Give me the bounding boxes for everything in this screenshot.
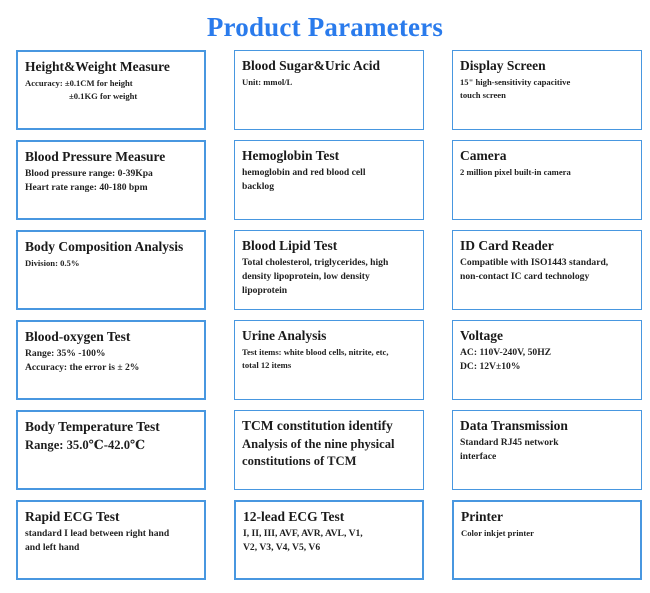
- card-line: 2 million pixel built-in camera: [460, 166, 641, 179]
- card-line: Test items: white blood cells, nitrite, …: [242, 346, 423, 359]
- card-line: I, II, III, AVF, AVR, AVL, V1,: [243, 527, 422, 541]
- card-lines: Range: 35.0℃-42.0℃: [25, 437, 204, 454]
- card-line: interface: [460, 450, 641, 464]
- card-line: 15" high-sensitivity capacitive: [460, 76, 641, 89]
- card-title: Blood Sugar&Uric Acid: [242, 57, 423, 74]
- card-line: Range: 35% -100%: [25, 347, 204, 361]
- card-lines: Range: 35% -100% Accuracy: the error is …: [25, 347, 204, 375]
- parameter-card-printer: Printer Color inkjet printer: [452, 500, 642, 580]
- card-line: Division: 0.5%: [25, 257, 204, 270]
- card-title: Body Temperature Test: [25, 418, 204, 435]
- product-parameters-page: Product Parameters Height&Weight Measure…: [0, 0, 650, 593]
- card-lines: 15" high-sensitivity capacitive touch sc…: [460, 76, 641, 101]
- card-title: Blood-oxygen Test: [25, 328, 204, 345]
- card-title: 12-lead ECG Test: [243, 508, 422, 525]
- card-line: constitutions of TCM: [242, 453, 423, 470]
- card-line: Standard RJ45 network: [460, 436, 641, 450]
- card-lines: Accuracy: ±0.1CM for height ±0.1KG for w…: [25, 77, 204, 102]
- card-lines: hemoglobin and red blood cell backlog: [242, 166, 423, 194]
- parameter-card-tcm-constitution-identify: TCM constitution identify Analysis of th…: [234, 410, 424, 490]
- card-line: total 12 items: [242, 359, 423, 372]
- parameter-card-grid: Height&Weight Measure Accuracy: ±0.1CM f…: [0, 50, 650, 580]
- card-lines: Test items: white blood cells, nitrite, …: [242, 346, 423, 371]
- card-line: Compatible with ISO1443 standard,: [460, 256, 641, 270]
- card-title: Body Composition Analysis: [25, 238, 204, 255]
- card-lines: Compatible with ISO1443 standard, non-co…: [460, 256, 641, 284]
- parameter-card-blood-lipid-test: Blood Lipid Test Total cholesterol, trig…: [234, 230, 424, 310]
- card-title: Height&Weight Measure: [25, 58, 204, 75]
- card-line: AC: 110V-240V, 50HZ: [460, 346, 641, 360]
- card-line: non-contact IC card technology: [460, 270, 641, 284]
- card-lines: AC: 110V-240V, 50HZ DC: 12V±10%: [460, 346, 641, 374]
- parameter-card-rapid-ecg-test: Rapid ECG Test standard I lead between r…: [16, 500, 206, 580]
- card-line: Total cholesterol, triglycerides, high: [242, 256, 423, 270]
- parameter-card-id-card-reader: ID Card Reader Compatible with ISO1443 s…: [452, 230, 642, 310]
- card-lines: Unit: mmol/L: [242, 76, 423, 89]
- card-line: Blood pressure range: 0-39Kpa: [25, 167, 204, 181]
- card-line: touch screen: [460, 89, 641, 102]
- card-title: Rapid ECG Test: [25, 508, 204, 525]
- parameter-card-blood-oxygen-test: Blood-oxygen Test Range: 35% -100% Accur…: [16, 320, 206, 400]
- parameter-card-blood-pressure-measure: Blood Pressure Measure Blood pressure ra…: [16, 140, 206, 220]
- parameter-card-blood-sugar-uric-acid: Blood Sugar&Uric Acid Unit: mmol/L: [234, 50, 424, 130]
- card-title: Printer: [461, 508, 640, 525]
- card-line: Analysis of the nine physical: [242, 436, 423, 453]
- card-title: Urine Analysis: [242, 327, 423, 344]
- card-lines: Analysis of the nine physical constituti…: [242, 436, 423, 470]
- card-line: standard I lead between right hand: [25, 527, 204, 541]
- parameter-card-display-screen: Display Screen 15" high-sensitivity capa…: [452, 50, 642, 130]
- parameter-card-height-weight-measure: Height&Weight Measure Accuracy: ±0.1CM f…: [16, 50, 206, 130]
- card-line: hemoglobin and red blood cell: [242, 166, 423, 180]
- parameter-card-12-lead-ecg-test: 12-lead ECG Test I, II, III, AVF, AVR, A…: [234, 500, 424, 580]
- parameter-card-voltage: Voltage AC: 110V-240V, 50HZ DC: 12V±10%: [452, 320, 642, 400]
- parameter-card-body-temperature-test: Body Temperature Test Range: 35.0℃-42.0℃: [16, 410, 206, 490]
- card-lines: standard I lead between right hand and l…: [25, 527, 204, 555]
- card-title: Display Screen: [460, 57, 641, 74]
- card-line: density lipoprotein, low density: [242, 270, 423, 284]
- parameter-card-camera: Camera 2 million pixel built-in camera: [452, 140, 642, 220]
- parameter-card-data-transmission: Data Transmission Standard RJ45 network …: [452, 410, 642, 490]
- card-line: Unit: mmol/L: [242, 76, 423, 89]
- card-lines: I, II, III, AVF, AVR, AVL, V1, V2, V3, V…: [243, 527, 422, 555]
- card-title: Voltage: [460, 327, 641, 344]
- card-line: Range: 35.0℃-42.0℃: [25, 437, 204, 454]
- card-lines: 2 million pixel built-in camera: [460, 166, 641, 179]
- card-line: Accuracy: the error is ± 2%: [25, 361, 204, 375]
- card-line: backlog: [242, 180, 423, 194]
- card-title: TCM constitution identify: [242, 417, 423, 434]
- card-line: Accuracy: ±0.1CM for height: [25, 77, 204, 90]
- card-line: V2, V3, V4, V5, V6: [243, 541, 422, 555]
- card-title: Blood Lipid Test: [242, 237, 423, 254]
- card-title: Camera: [460, 147, 641, 164]
- card-line: and left hand: [25, 541, 204, 555]
- parameter-card-urine-analysis: Urine Analysis Test items: white blood c…: [234, 320, 424, 400]
- card-line: DC: 12V±10%: [460, 360, 641, 374]
- card-title: ID Card Reader: [460, 237, 641, 254]
- card-line: lipoprotein: [242, 284, 423, 298]
- card-lines: Color inkjet printer: [461, 527, 640, 540]
- card-line: Color inkjet printer: [461, 527, 640, 540]
- card-lines: Blood pressure range: 0-39Kpa Heart rate…: [25, 167, 204, 195]
- card-title: Blood Pressure Measure: [25, 148, 204, 165]
- card-title: Hemoglobin Test: [242, 147, 423, 164]
- card-lines: Standard RJ45 network interface: [460, 436, 641, 464]
- card-lines: Division: 0.5%: [25, 257, 204, 270]
- card-title: Data Transmission: [460, 417, 641, 434]
- parameter-card-body-composition-analysis: Body Composition Analysis Division: 0.5%: [16, 230, 206, 310]
- page-title: Product Parameters: [0, 0, 650, 44]
- card-line: Heart rate range: 40-180 bpm: [25, 181, 204, 195]
- card-line: ±0.1KG for weight: [25, 90, 204, 103]
- parameter-card-hemoglobin-test: Hemoglobin Test hemoglobin and red blood…: [234, 140, 424, 220]
- card-lines: Total cholesterol, triglycerides, high d…: [242, 256, 423, 298]
